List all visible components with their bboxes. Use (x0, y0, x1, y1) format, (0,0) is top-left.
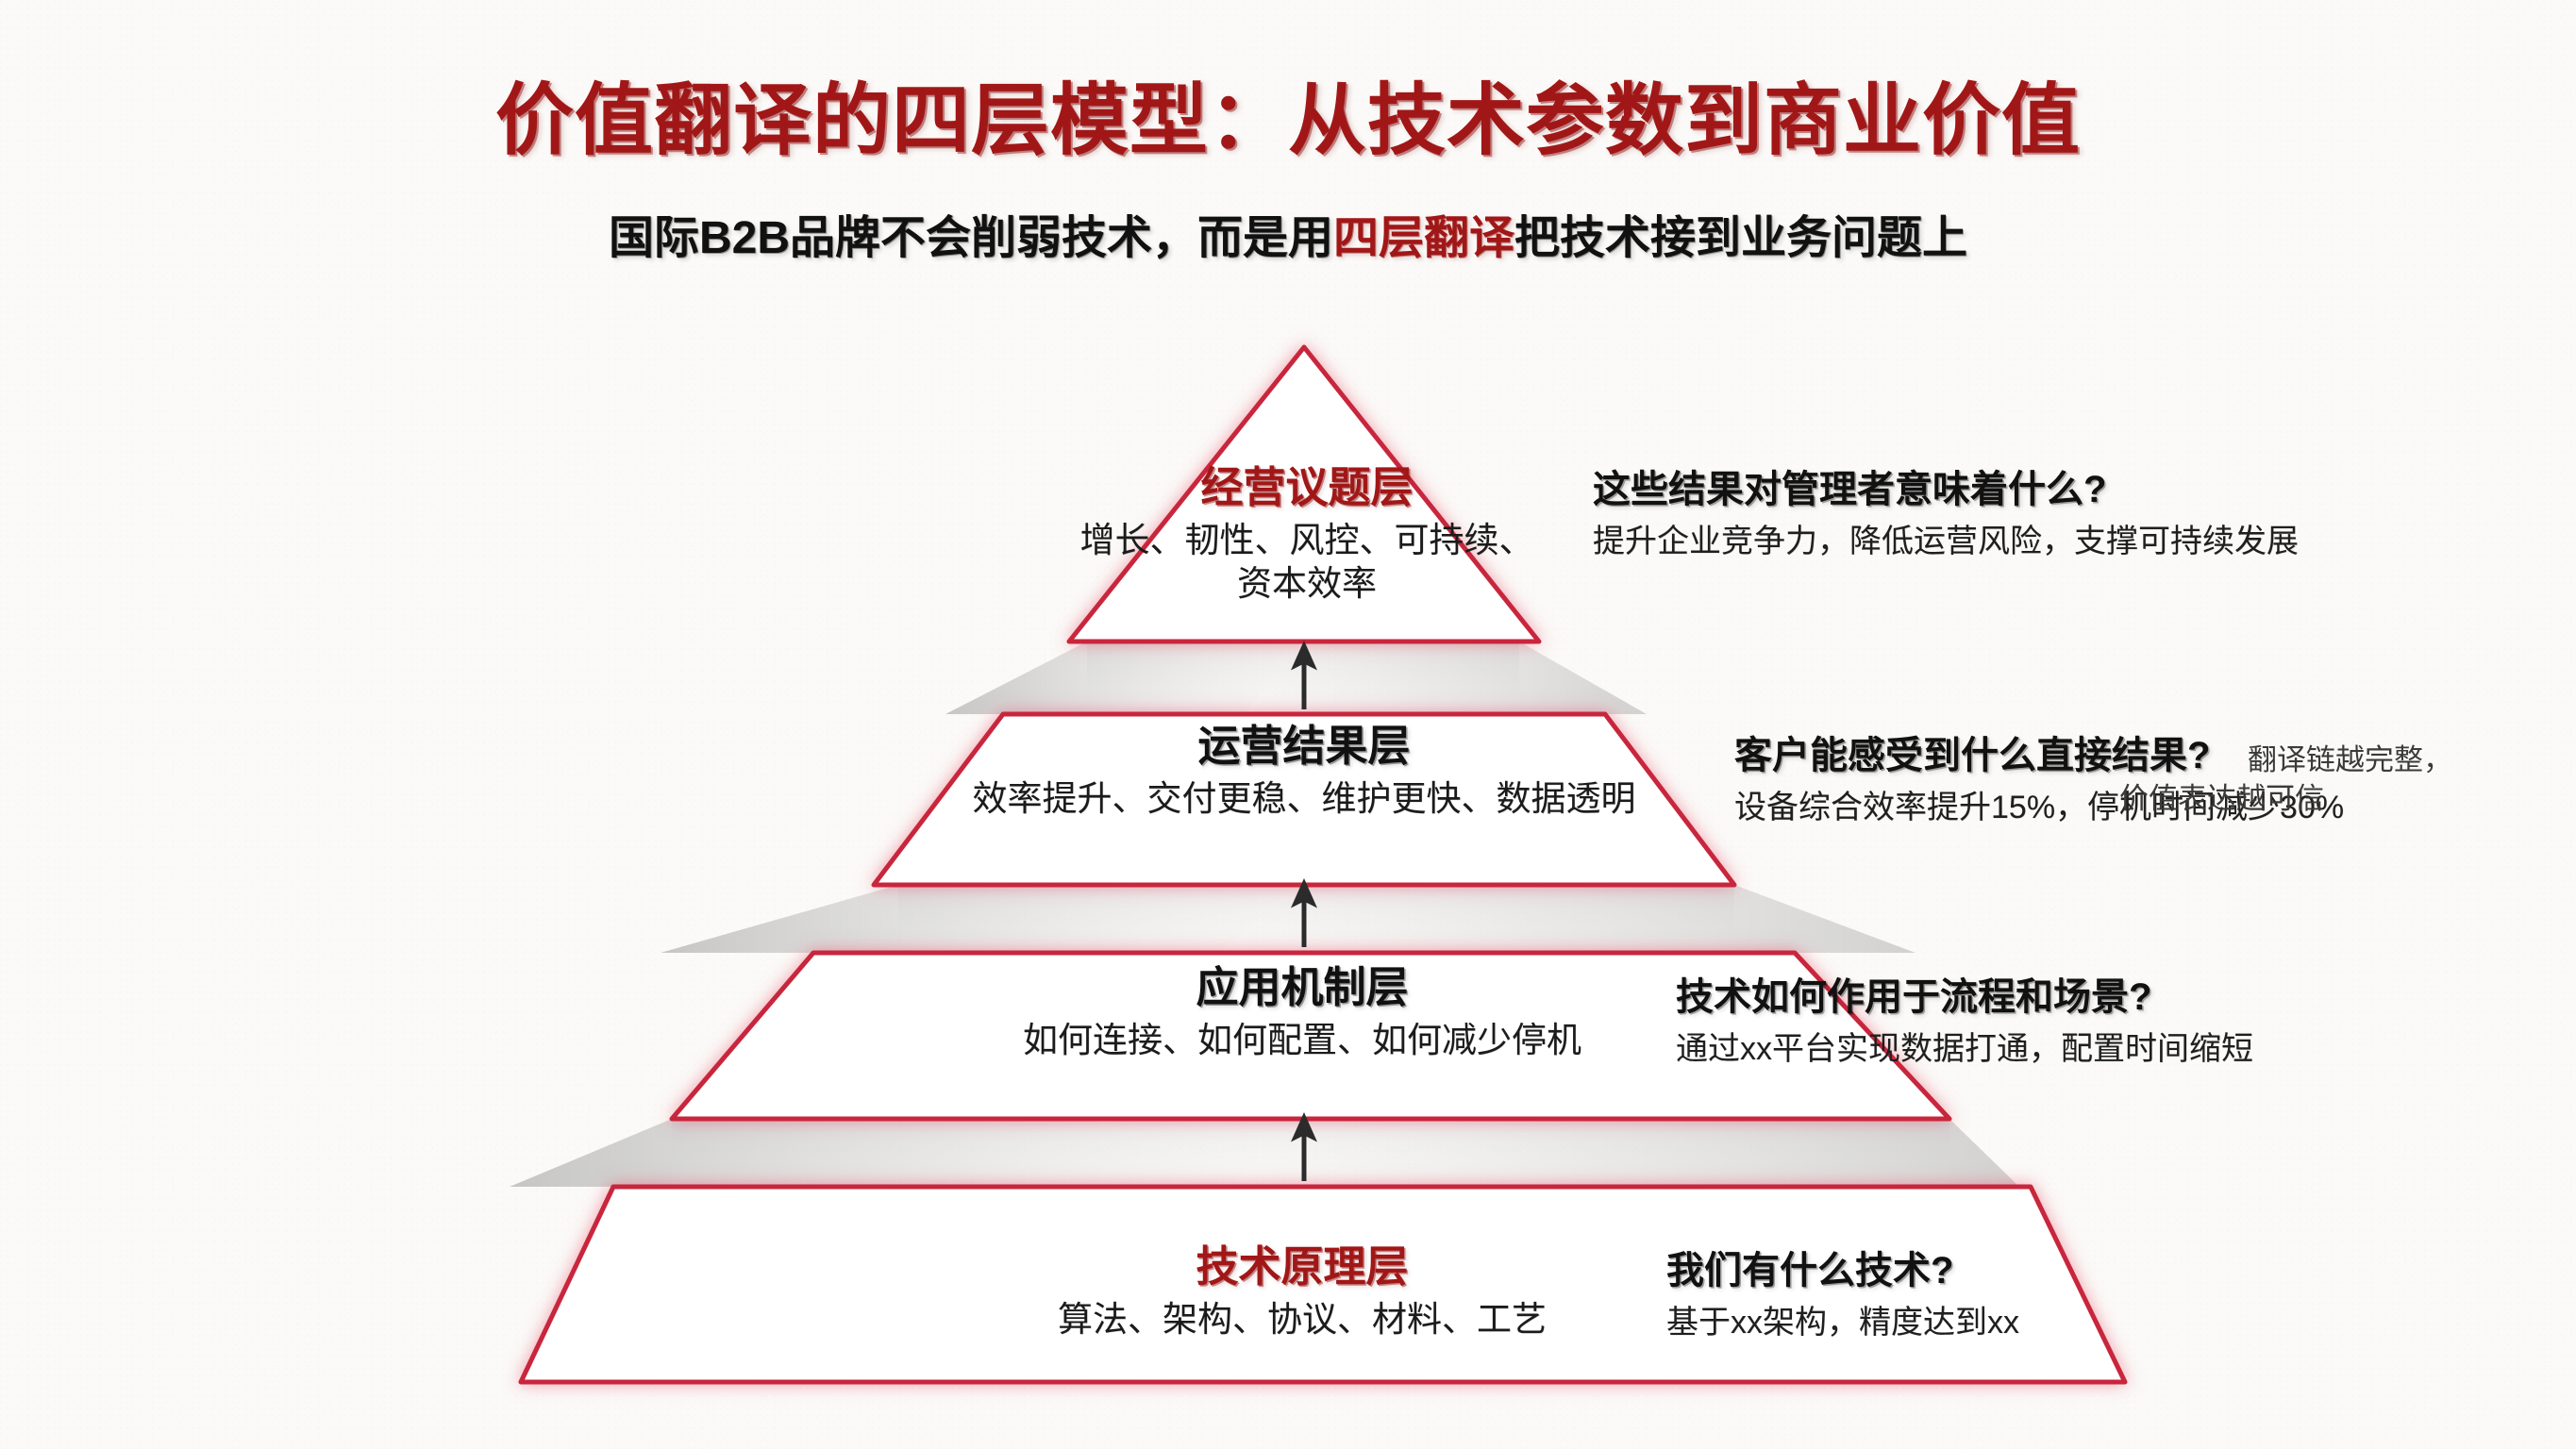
page-title: 价值翻译的四层模型：从技术参数到商业价值 (0, 57, 2576, 170)
pyramid-level-4-shape[interactable] (521, 1187, 2125, 1382)
page-subtitle: 国际B2B品牌不会削弱技术，而是用四层翻译把技术接到业务问题上 (0, 200, 2576, 266)
subtitle-highlight: 四层翻译 (1333, 213, 1514, 263)
subtitle-part-1: 国际B2B品牌不会削弱技术，而是用 (609, 213, 1333, 263)
pyramid-level-3-shape[interactable] (672, 953, 1949, 1119)
pyramid-level-2-shape[interactable] (874, 714, 1734, 885)
subtitle-part-2: 把技术接到业务问题上 (1514, 213, 1967, 263)
slide-canvas: 价值翻译的四层模型：从技术参数到商业价值 国际B2B品牌不会削弱技术，而是用四层… (0, 0, 2576, 1449)
pyramid-level-1-shape[interactable] (1069, 347, 1539, 641)
